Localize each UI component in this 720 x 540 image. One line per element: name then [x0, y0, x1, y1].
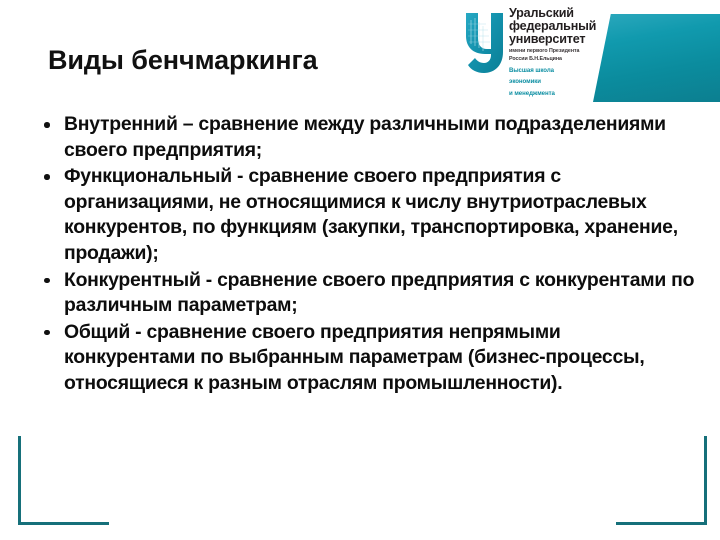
page-title: Виды бенчмаркинга	[48, 44, 318, 76]
logo-subtitle-line2: России Б.Н.Ельцина	[509, 56, 595, 62]
list-item: Общий - сравнение своего предприятия неп…	[36, 320, 696, 397]
logo-school-line3: и менеджмента	[509, 90, 595, 97]
slide-canvas: Уральский федеральный университет имени …	[0, 0, 720, 540]
urfu-stylized-u-icon	[462, 8, 508, 78]
header-logo-block: Уральский федеральный университет имени …	[462, 4, 720, 108]
header-teal-banner	[593, 14, 720, 102]
logo-school-line2: экономики	[509, 78, 595, 85]
list-item: Внутренний – сравнение между различными …	[36, 112, 696, 163]
corner-bracket-bottom-left-icon	[18, 436, 109, 525]
bullet-list: Внутренний – сравнение между различными …	[36, 112, 696, 398]
logo-subtitle-line1: имени первого Президента	[509, 48, 595, 54]
logo-school-line1: Высшая школа	[509, 67, 595, 74]
logo-text-block: Уральский федеральный университет имени …	[509, 7, 595, 97]
list-item: Конкурентный - сравнение своего предприя…	[36, 268, 696, 319]
corner-bracket-bottom-right-icon	[616, 436, 707, 525]
logo-name-line3: университет	[509, 33, 595, 46]
list-item: Функциональный - сравнение своего предпр…	[36, 164, 696, 266]
